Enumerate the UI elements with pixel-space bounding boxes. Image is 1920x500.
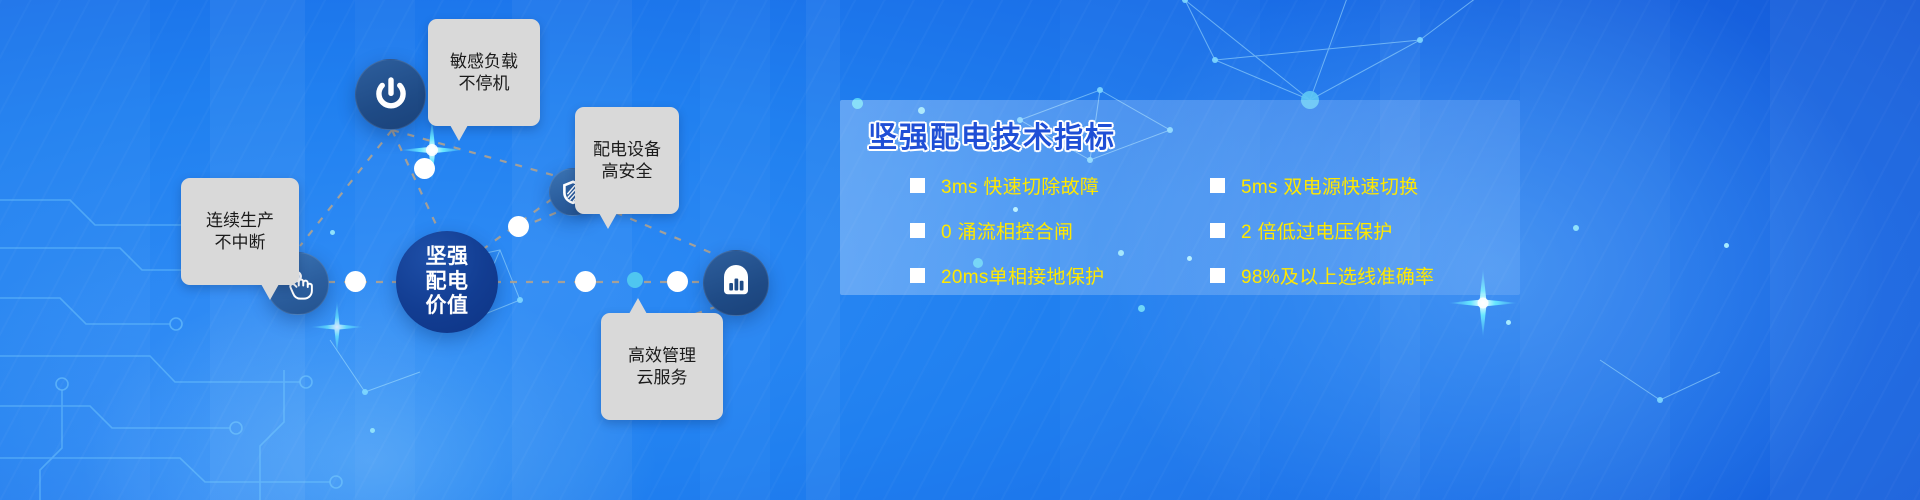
connector-dot — [345, 271, 366, 292]
spec-item: 3ms 快速切除故障 — [910, 172, 1210, 199]
diagram-node-power[interactable] — [355, 59, 426, 130]
banner-stage: 坚强 配电 价值 敏感负载 不停机 配电设备 高安全 连续生产 不中断 高效管理… — [0, 0, 1920, 500]
connector-dot — [627, 272, 643, 288]
callout-text: 配电设备 高安全 — [593, 140, 661, 181]
callout-text: 高效管理 云服务 — [628, 346, 696, 387]
spec-item: 98%及以上选线准确率 — [1210, 262, 1510, 289]
connector-dot — [414, 158, 435, 179]
bullet-square-icon — [1210, 268, 1225, 283]
bullet-square-icon — [910, 223, 925, 238]
connector-dot — [575, 271, 596, 292]
bullet-square-icon — [1210, 223, 1225, 238]
spec-text: 20ms单相接地保护 — [941, 262, 1104, 289]
callout-bubble-power: 敏感负载 不停机 — [428, 19, 540, 126]
bubble-tail — [261, 284, 279, 300]
spec-list: 3ms 快速切除故障 5ms 双电源快速切换 0 涌流相控合闸 2 倍低过电压保… — [910, 172, 1510, 289]
connector-dot — [508, 216, 529, 237]
bubble-tail — [450, 125, 468, 141]
bubble-tail — [629, 298, 647, 314]
connector-dot — [667, 271, 688, 292]
callout-bubble-shield: 配电设备 高安全 — [575, 107, 679, 214]
spec-item: 0 涌流相控合闸 — [910, 217, 1210, 244]
callout-bubble-chart: 高效管理 云服务 — [601, 313, 723, 420]
spec-text: 5ms 双电源快速切换 — [1241, 172, 1418, 199]
power-icon — [371, 75, 411, 115]
tech-specs-panel: 坚强配电技术指标 3ms 快速切除故障 5ms 双电源快速切换 0 涌流相控合闸… — [840, 100, 1520, 295]
bullet-square-icon — [1210, 178, 1225, 193]
panel-title: 坚强配电技术指标 — [868, 114, 1116, 156]
spec-text: 0 涌流相控合闸 — [941, 217, 1073, 244]
callout-text: 连续生产 不中断 — [206, 211, 274, 252]
spec-text: 3ms 快速切除故障 — [941, 172, 1099, 199]
spec-text: 98%及以上选线准确率 — [1241, 262, 1434, 289]
hub-label: 坚强 配电 价值 — [426, 245, 469, 319]
hub-circle: 坚强 配电 价值 — [396, 231, 498, 333]
bubble-tail — [599, 213, 617, 229]
bar-chart-icon — [718, 265, 754, 301]
spec-text: 2 倍低过电压保护 — [1241, 217, 1393, 244]
callout-text: 敏感负载 不停机 — [450, 52, 518, 93]
diagram-node-chart[interactable] — [703, 250, 769, 316]
spec-item: 2 倍低过电压保护 — [1210, 217, 1510, 244]
spec-item: 5ms 双电源快速切换 — [1210, 172, 1510, 199]
spec-item: 20ms单相接地保护 — [910, 262, 1210, 289]
callout-bubble-touch: 连续生产 不中断 — [181, 178, 299, 285]
bullet-square-icon — [910, 178, 925, 193]
bullet-square-icon — [910, 268, 925, 283]
